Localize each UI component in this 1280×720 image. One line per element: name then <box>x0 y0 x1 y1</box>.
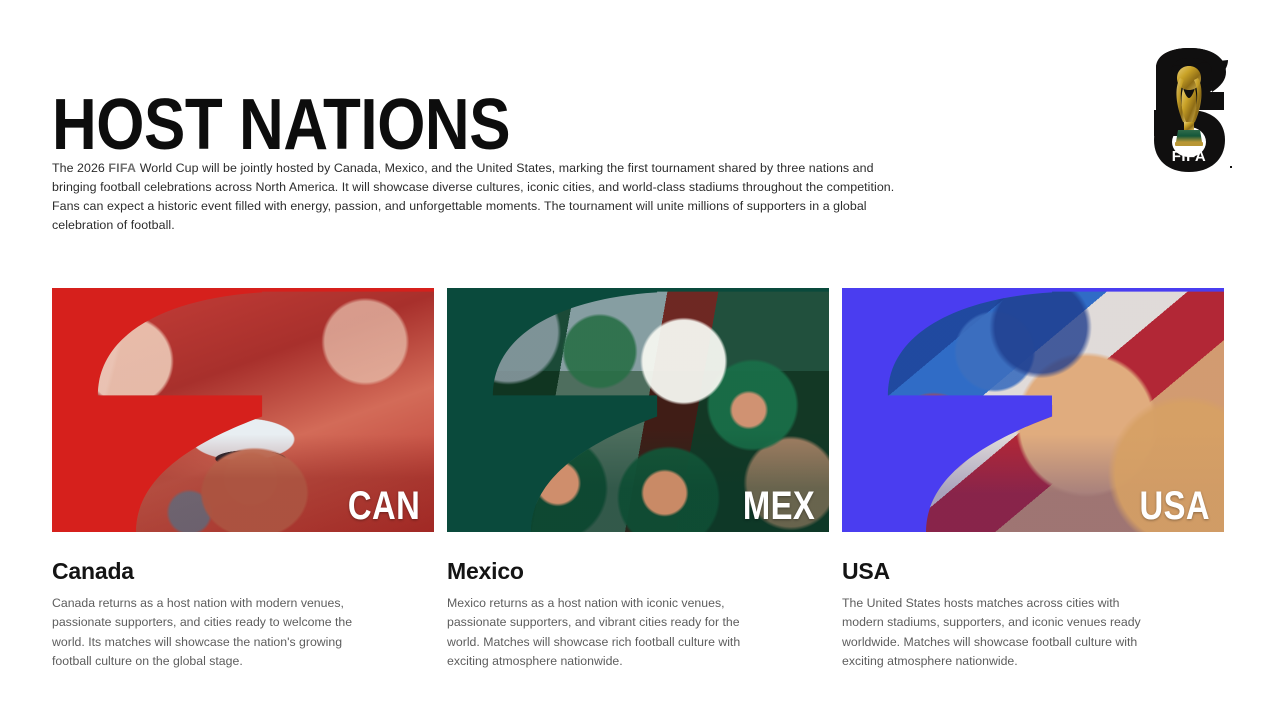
nation-card-mexico[interactable]: MEX Mexico Mexico returns as a host nati… <box>447 288 829 671</box>
card-body-canada: Canada returns as a host nation with mod… <box>52 594 382 671</box>
intro-text-before: The 2026 <box>52 161 108 175</box>
card-visual-canada: CAN <box>52 288 434 532</box>
card-code-mexico: MEX <box>743 486 815 526</box>
nation-card-usa[interactable]: USA USA The United States hosts matches … <box>842 288 1224 671</box>
card-heading-usa: USA <box>842 558 1224 585</box>
card-code-usa: USA <box>1140 486 1210 526</box>
world-cup-trophy-icon <box>1175 66 1203 146</box>
card-heading-mexico: Mexico <box>447 558 829 585</box>
card-body-mexico: Mexico returns as a host nation with ico… <box>447 594 759 671</box>
page-title: HOST NATIONS <box>52 96 510 155</box>
intro-paragraph: The 2026 FIFA World Cup will be jointly … <box>52 159 918 234</box>
fifa-26-logo-svg: FIFA <box>1150 48 1228 172</box>
slide-root: HOST NATIONS The 2026 FIFA World Cup wil… <box>0 0 1280 720</box>
fifa-wordmark: FIFA <box>1172 148 1207 165</box>
fifa-brand-word: FIFA <box>108 161 136 175</box>
intro-text-after: World Cup will be jointly hosted by Cana… <box>52 161 894 231</box>
card-visual-usa: USA <box>842 288 1224 532</box>
logo-registration-dot <box>1230 166 1232 168</box>
card-code-canada: CAN <box>348 486 420 526</box>
card-heading-canada: Canada <box>52 558 434 585</box>
card-body-usa: The United States hosts matches across c… <box>842 594 1154 671</box>
card-visual-mexico: MEX <box>447 288 829 532</box>
fifa-26-logo: FIFA <box>1150 48 1228 172</box>
nation-card-canada[interactable]: CAN Canada Canada returns as a host nati… <box>52 288 434 671</box>
nation-card-grid: CAN Canada Canada returns as a host nati… <box>52 288 1227 671</box>
